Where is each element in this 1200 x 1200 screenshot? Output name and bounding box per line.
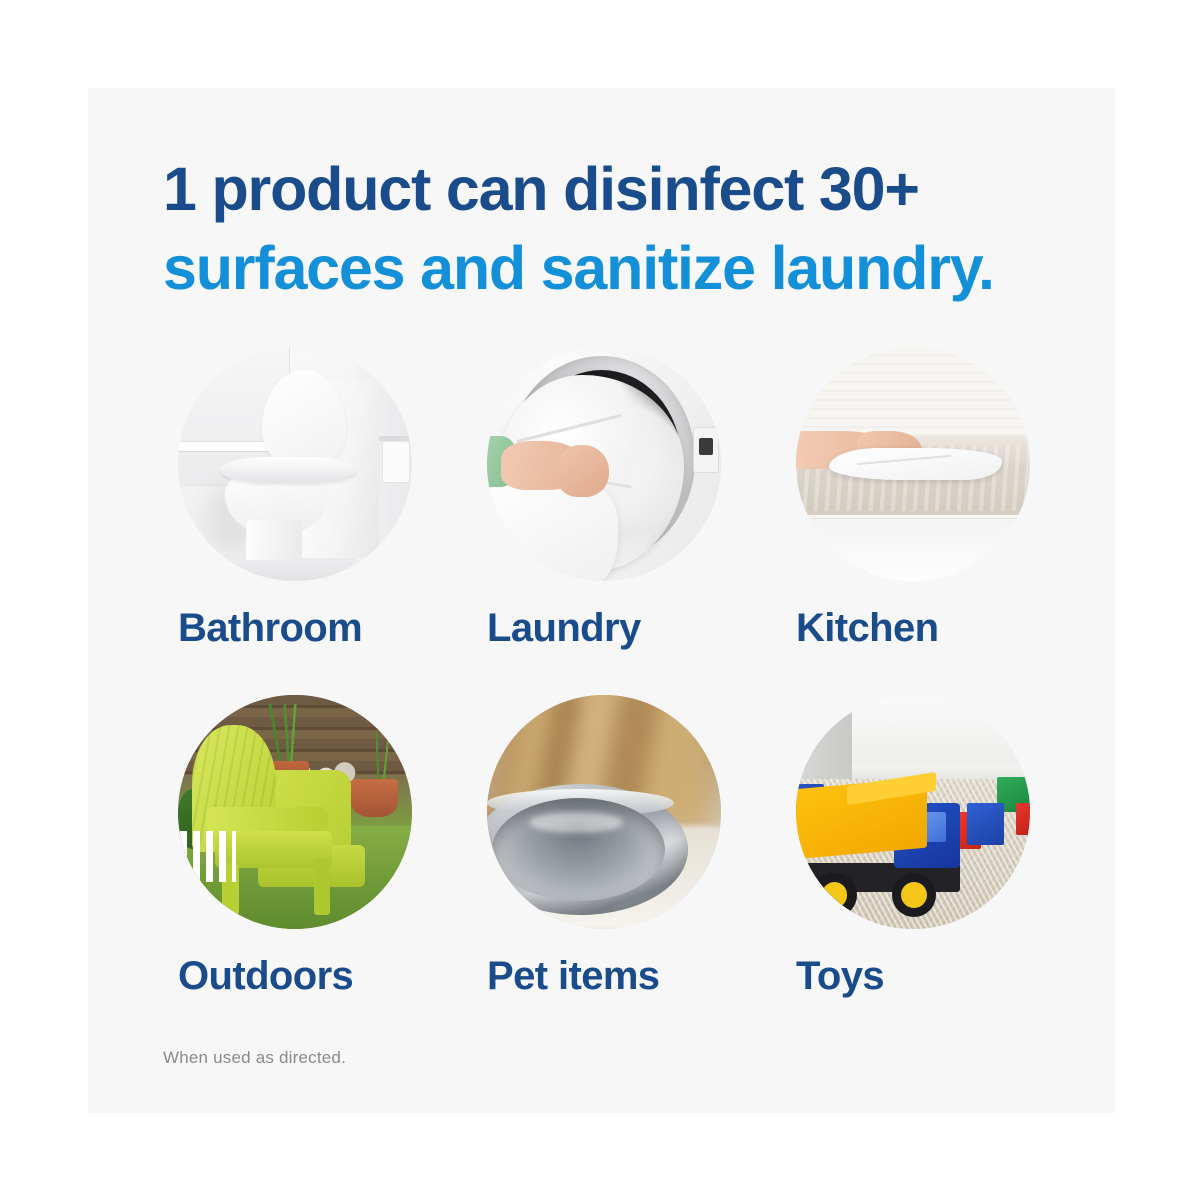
pet-items-photo: [487, 695, 721, 929]
tile-outdoors: Outdoors: [178, 695, 412, 999]
tile-laundry: Laundry: [487, 347, 721, 651]
toilet-paper-holder: [379, 436, 412, 441]
tile-label-outdoors: Outdoors: [178, 953, 412, 999]
laundry-sheet: [487, 478, 618, 581]
toys-photo: [796, 695, 1030, 929]
washer-button: [699, 438, 713, 454]
kitchen-scene: [796, 347, 1030, 581]
laundry-scene: [487, 347, 721, 581]
patio-chair-1-arm: [206, 807, 328, 833]
hand: [557, 445, 608, 496]
toy-block-blue: [967, 803, 1004, 845]
surface-tiles-grid: Bathroom Laund: [178, 347, 1028, 999]
tile-label-laundry: Laundry: [487, 605, 721, 651]
kitchen-wall: [796, 347, 1030, 441]
bathroom-ledge: [178, 441, 272, 453]
laundry-photo: [487, 347, 721, 581]
tile-bathroom: Bathroom: [178, 347, 412, 651]
toy-block-red-2: [1016, 803, 1030, 836]
outdoors-photo: [178, 695, 412, 929]
headline-line-1: 1 product can disinfect 30+: [163, 150, 1063, 229]
terracotta-pot-2: [351, 779, 398, 816]
tile-kitchen: Kitchen: [796, 347, 1030, 651]
bathroom-photo: [178, 347, 412, 581]
headline-line-2: surfaces and sanitize laundry.: [163, 229, 1063, 308]
truck-wheel-rear-hub: [822, 882, 848, 908]
tile-label-bathroom: Bathroom: [178, 605, 412, 651]
cleaning-wipe: [829, 448, 1002, 481]
cabinet-base: [796, 518, 1030, 581]
toilet-paper-roll: [382, 441, 410, 483]
page-title: 1 product can disinfect 30+ surfaces and…: [163, 150, 1063, 308]
tile-label-toys: Toys: [796, 953, 1030, 999]
tile-pet-items: Pet items: [487, 695, 721, 999]
outdoors-scene: [178, 695, 412, 929]
bathroom-scene: [178, 347, 412, 581]
kitchen-photo: [796, 347, 1030, 581]
truck-wheel-front-hub: [901, 882, 927, 908]
toilet-seat: [220, 457, 356, 483]
bathroom-floor: [178, 560, 412, 581]
tile-label-pet-items: Pet items: [487, 953, 721, 999]
white-picket-fence: [180, 831, 236, 882]
patio-chair-1-leg-back: [314, 859, 330, 915]
room-wall-right: [852, 695, 1030, 775]
tile-label-kitchen: Kitchen: [796, 605, 1030, 651]
infographic-card: 1 product can disinfect 30+ surfaces and…: [88, 88, 1115, 1113]
pet-items-scene: [487, 695, 721, 929]
toys-scene: [796, 695, 1030, 929]
footnote-disclaimer: When used as directed.: [163, 1048, 346, 1068]
tile-toys: Toys: [796, 695, 1030, 999]
pet-bowl-highlight: [529, 812, 623, 833]
